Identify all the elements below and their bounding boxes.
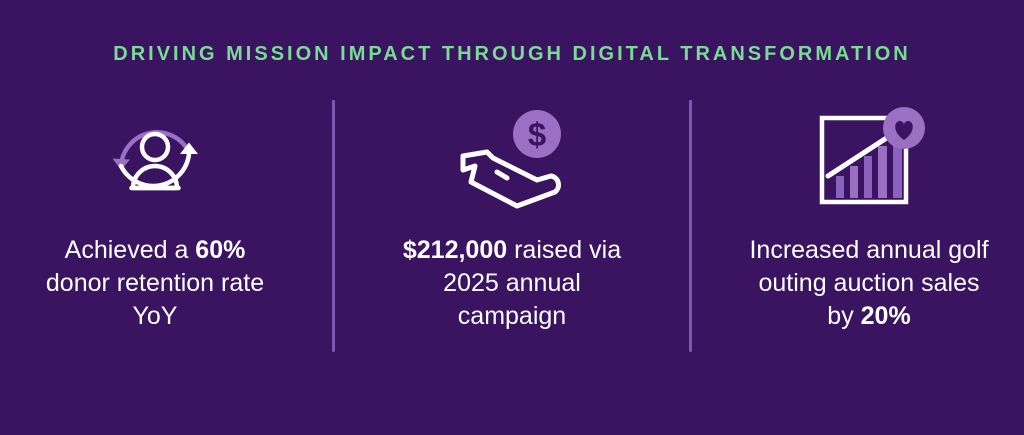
stat-column-auction-sales: Increased annual golf outing auction sal… <box>720 100 1018 352</box>
column-divider-1 <box>332 100 335 352</box>
column-divider-2 <box>689 100 692 352</box>
stat-value: $212,000 <box>403 236 507 264</box>
stat-suffix: donor retention rate YoY <box>46 269 264 330</box>
stats-row: Achieved a 60% donor retention rate YoY … <box>0 100 1024 352</box>
donor-retention-cycle-icon <box>94 100 216 218</box>
page-title: DRIVING MISSION IMPACT THROUGH DIGITAL T… <box>113 44 911 64</box>
stat-column-funds-raised: $ $212,000 raised via 2025 annual campai… <box>363 100 661 352</box>
stat-column-donor-retention: Achieved a 60% donor retention rate YoY <box>6 100 304 352</box>
infographic-banner: DRIVING MISSION IMPACT THROUGH DIGITAL T… <box>0 0 1024 435</box>
stat-value: 20% <box>861 302 911 330</box>
hand-holding-dollar-icon: $ <box>447 100 577 218</box>
stat-prefix: Achieved a <box>65 236 196 264</box>
stat-text-donor-retention: Achieved a 60% donor retention rate YoY <box>30 234 280 333</box>
stat-text-auction-sales: Increased annual golf outing auction sal… <box>744 234 994 333</box>
growth-chart-heart-icon <box>810 100 928 218</box>
stat-value: 60% <box>195 236 245 264</box>
svg-text:$: $ <box>528 116 546 153</box>
stat-text-funds-raised: $212,000 raised via 2025 annual campaign <box>387 234 637 333</box>
